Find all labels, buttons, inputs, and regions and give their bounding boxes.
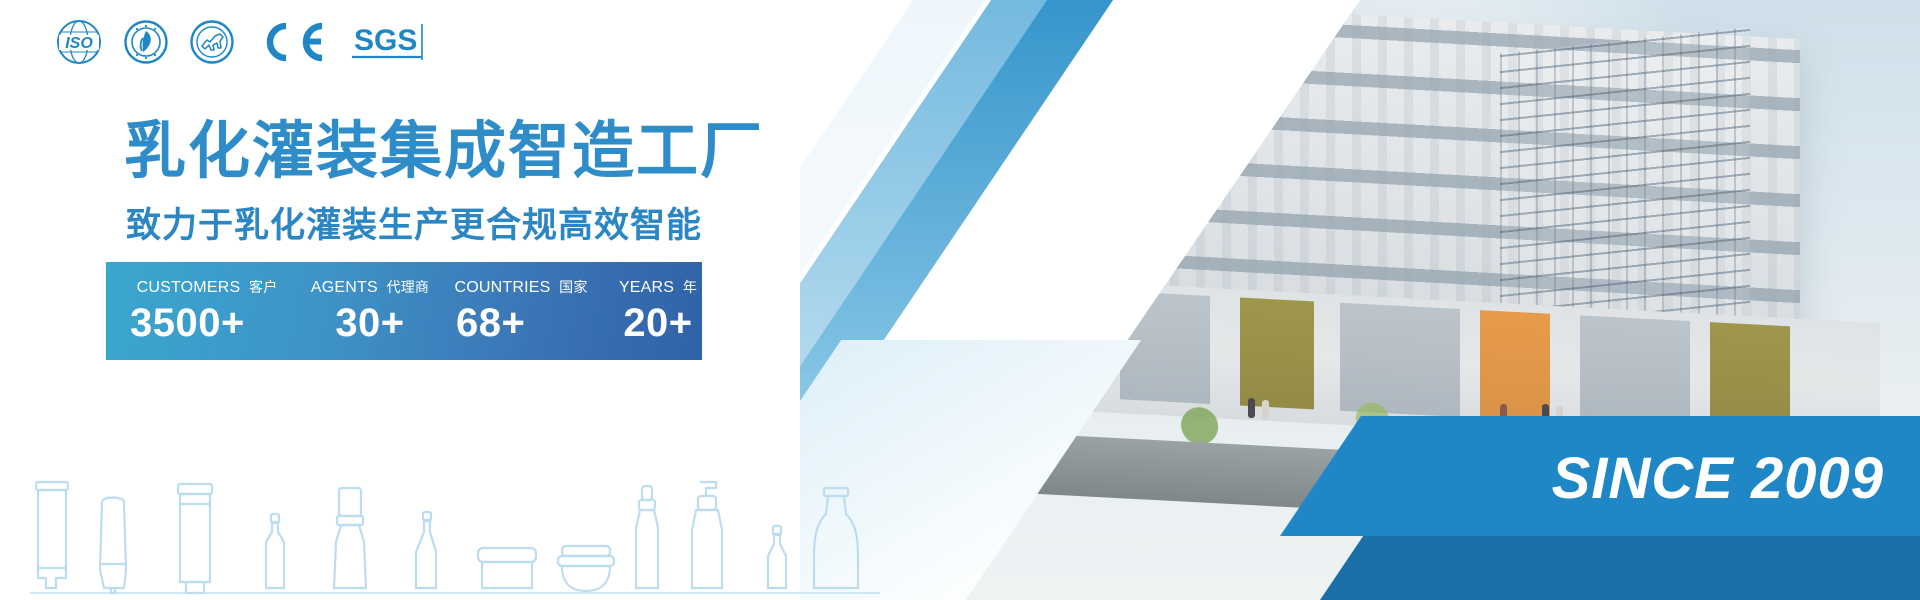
stat-value: 68+ xyxy=(456,303,525,343)
squeeze-tube-large-icon xyxy=(36,482,68,588)
left-content: ISO xyxy=(0,0,880,600)
stat-label-cn: 国家 xyxy=(559,279,587,295)
stat-item-years: YEARS 年 20+ xyxy=(602,262,714,360)
stat-item-customers: CUSTOMERS 客户 3500+ xyxy=(114,262,300,360)
stat-value: 3500+ xyxy=(130,303,245,343)
stat-label-en: CUSTOMERS xyxy=(137,279,241,296)
airless-tube-icon xyxy=(416,512,436,588)
stat-label-en: AGENTS xyxy=(311,279,378,296)
stat-value: 30+ xyxy=(335,303,404,343)
laminated-tube-icon xyxy=(178,484,212,593)
stats-strip: CUSTOMERS 客户 3500+ AGENTS 代理商 30+ COUNTR… xyxy=(106,262,702,360)
stat-label: YEARS 年 xyxy=(619,277,697,297)
stat-label-cn: 客户 xyxy=(249,279,277,295)
stat-label-cn: 代理商 xyxy=(387,279,430,295)
dropper-bottle-icon xyxy=(334,488,366,588)
stat-item-agents: AGENTS 代理商 30+ xyxy=(300,262,440,360)
cream-jar-wide-icon xyxy=(478,548,536,588)
ampoule-tall-icon xyxy=(768,526,786,588)
stat-label-en: COUNTRIES xyxy=(454,279,550,296)
ampoule-small-icon xyxy=(266,514,284,588)
pump-dispenser-icon xyxy=(692,482,722,588)
since-badge-shadow xyxy=(1320,536,1920,600)
certification-logo-row: ISO xyxy=(56,18,434,66)
sgs-certification-logo: SGS xyxy=(350,18,434,66)
quality-mark-logo xyxy=(190,20,234,64)
svg-text:ISO: ISO xyxy=(65,35,93,52)
stat-value: 20+ xyxy=(623,303,692,343)
stat-label: COUNTRIES 国家 xyxy=(454,277,587,297)
stat-item-countries: COUNTRIES 国家 68+ xyxy=(440,262,602,360)
stat-label: CUSTOMERS 客户 xyxy=(137,277,278,297)
iso-certification-logo: ISO xyxy=(56,19,102,65)
hero-banner: SINCE 2009 ISO xyxy=(0,0,1920,600)
since-label: SINCE 2009 xyxy=(1552,445,1884,512)
serum-bottle-icon xyxy=(814,488,858,588)
ce-certification-logo xyxy=(256,20,328,64)
gmp-certification-logo xyxy=(124,20,168,64)
spray-bottle-icon xyxy=(636,486,658,588)
squeeze-tube-medium-icon xyxy=(100,498,126,594)
svg-text:SGS: SGS xyxy=(354,24,417,57)
packaging-silhouette-row xyxy=(0,460,900,600)
cream-jar-round-icon xyxy=(558,546,614,591)
banner-subheadline: 致力于乳化灌装生产更合规高效智能 xyxy=(126,197,702,248)
stat-label-cn: 年 xyxy=(683,279,697,295)
stat-label-en: YEARS xyxy=(619,279,674,296)
factory-photo-stage: SINCE 2009 xyxy=(800,0,1920,600)
banner-headline: 乳化灌装集成智造工厂 xyxy=(124,118,764,186)
stat-label: AGENTS 代理商 xyxy=(311,277,429,297)
